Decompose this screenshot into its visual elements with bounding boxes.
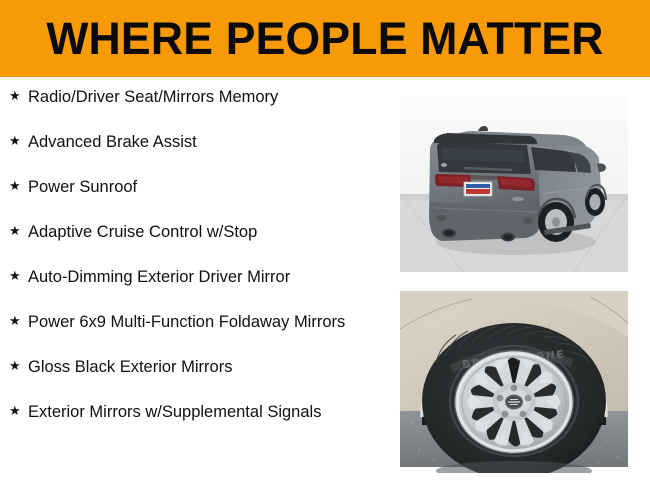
feature-list: ★ Radio/Driver Seat/Mirrors Memory ★ Adv… — [0, 86, 380, 446]
list-item: ★ Advanced Brake Assist — [0, 131, 380, 153]
list-item-label: Advanced Brake Assist — [28, 131, 348, 153]
alloy-wheel-photo: BRIDGESTONE — [394, 285, 634, 473]
star-bullet-icon: ★ — [9, 401, 28, 423]
list-item-label: Radio/Driver Seat/Mirrors Memory — [28, 86, 348, 108]
star-bullet-icon: ★ — [9, 311, 28, 333]
list-item-label: Gloss Black Exterior Mirrors — [28, 356, 348, 378]
alloy-wheel-illustration: BRIDGESTONE — [394, 285, 634, 473]
list-item-label: Auto-Dimming Exterior Driver Mirror — [28, 266, 348, 288]
list-item: ★ Auto-Dimming Exterior Driver Mirror — [0, 266, 380, 288]
star-bullet-icon: ★ — [9, 356, 28, 378]
list-item: ★ Exterior Mirrors w/Supplemental Signal… — [0, 401, 380, 423]
list-item-label: Power 6x9 Multi-Function Foldaway Mirror… — [28, 311, 348, 333]
header-underline — [0, 77, 650, 80]
list-item-label: Power Sunroof — [28, 176, 348, 198]
list-item: ★ Radio/Driver Seat/Mirrors Memory — [0, 86, 380, 108]
vehicle-rear-photo — [394, 90, 634, 277]
star-bullet-icon: ★ — [9, 86, 28, 108]
slide-canvas: WHERE PEOPLE MATTER ★ Radio/Driver Seat/… — [0, 0, 650, 488]
list-item: ★ Gloss Black Exterior Mirrors — [0, 356, 380, 378]
vehicle-rear-illustration — [394, 90, 634, 277]
list-item-label: Adaptive Cruise Control w/Stop — [28, 221, 348, 243]
list-item: ★ Adaptive Cruise Control w/Stop — [0, 221, 380, 243]
star-bullet-icon: ★ — [9, 221, 28, 243]
star-bullet-icon: ★ — [9, 176, 28, 198]
list-item: ★ Power 6x9 Multi-Function Foldaway Mirr… — [0, 311, 380, 333]
list-item-label: Exterior Mirrors w/Supplemental Signals — [28, 401, 348, 423]
star-bullet-icon: ★ — [9, 266, 28, 288]
page-title: WHERE PEOPLE MATTER — [3, 0, 647, 77]
star-bullet-icon: ★ — [9, 131, 28, 153]
list-item: ★ Power Sunroof — [0, 176, 380, 198]
